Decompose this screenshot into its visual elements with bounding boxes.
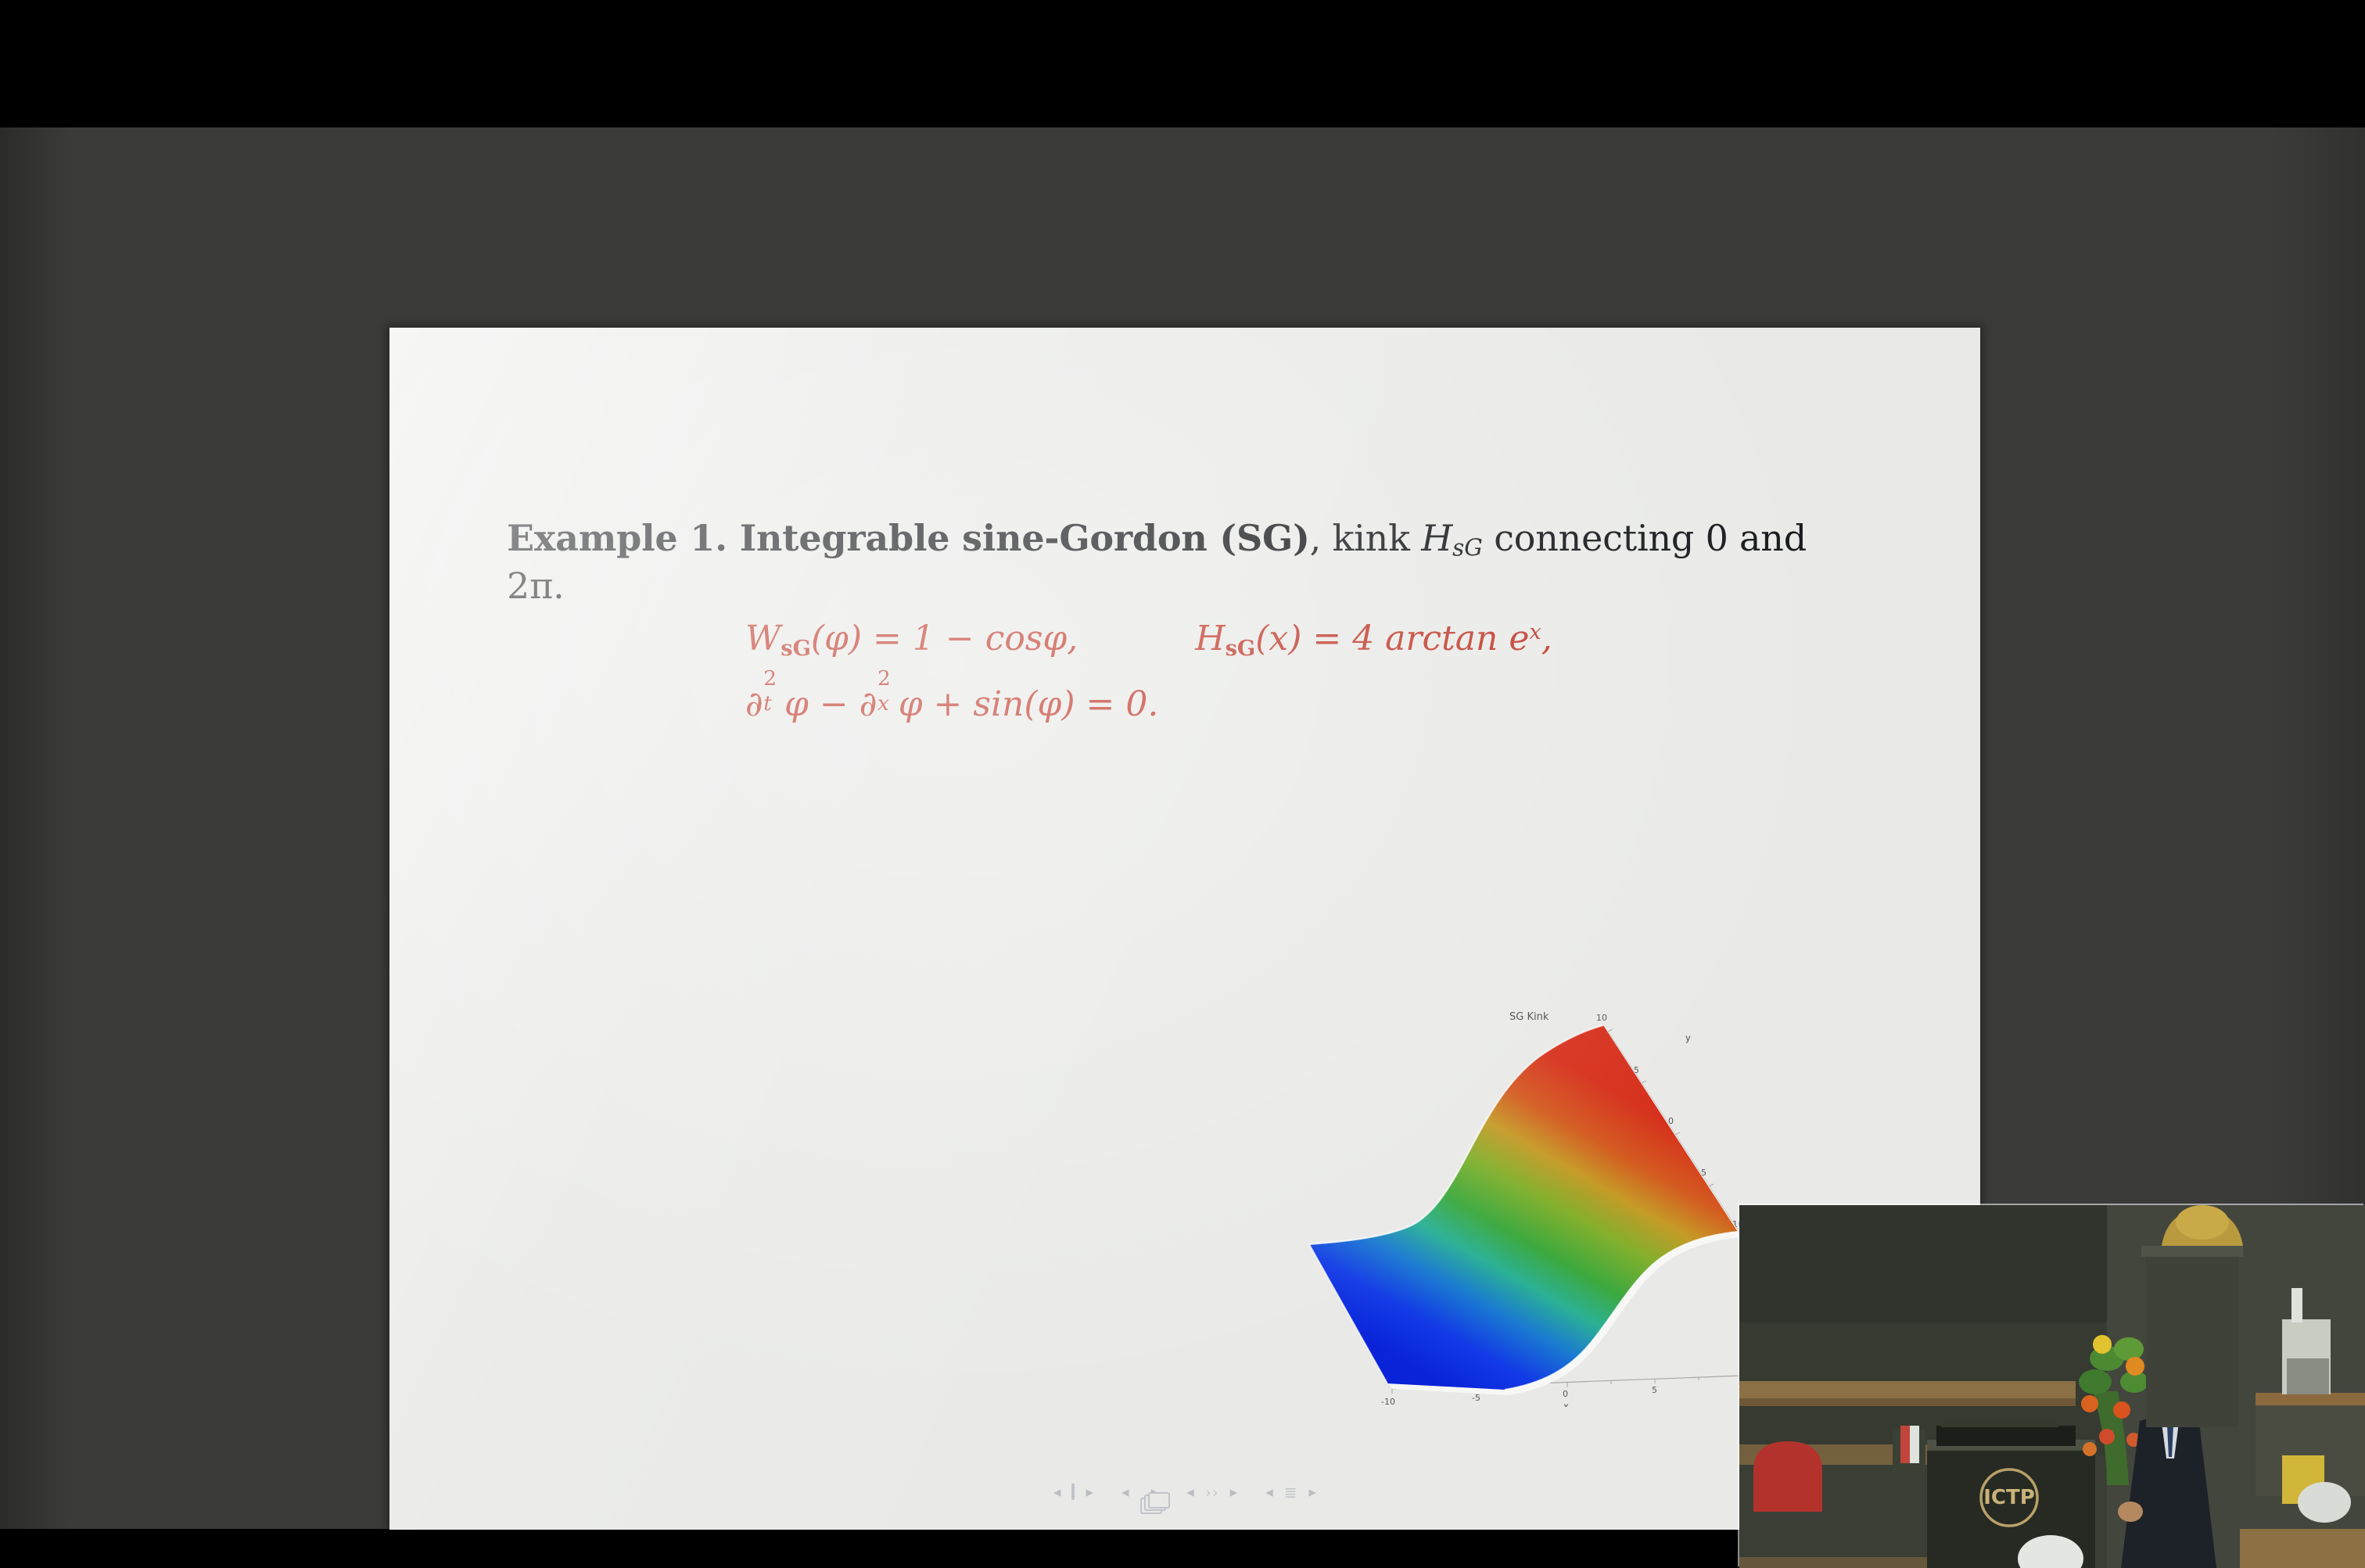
nav-prev-section-icon[interactable]: ◂ <box>1186 1485 1194 1500</box>
headline-text-2: connecting 0 and <box>1483 517 1807 559</box>
y-axis-label: y <box>1685 1032 1691 1043</box>
table-box <box>2287 1358 2329 1394</box>
nav-prev-document-icon[interactable]: ◂ <box>1265 1485 1273 1500</box>
podium-label: ICTP <box>1983 1486 2035 1509</box>
laptop-screen-edge <box>1941 1421 2058 1427</box>
lower-desk-edge <box>1739 1557 1943 1568</box>
nav-group-frame[interactable]: ◂ ▸ <box>1053 1485 1093 1500</box>
eq3-partial-1: ∂ <box>745 684 763 724</box>
lecture-hall-video-overlay[interactable]: ICTP <box>1739 1205 2365 1568</box>
small-flag <box>1900 1426 1911 1463</box>
pedestal-cap <box>2141 1246 2243 1257</box>
nav-next-document-icon[interactable]: ▸ <box>1309 1485 1317 1500</box>
lecture-hall-scene: ICTP <box>1739 1205 2365 1568</box>
eq3-mid: φ − <box>784 684 860 724</box>
speaker-hands <box>2118 1502 2143 1522</box>
eq3-partial-2-indices: 2x <box>877 681 898 716</box>
section-icon[interactable]: ›› <box>1205 1484 1219 1500</box>
eq2-symbol: H <box>1195 619 1225 658</box>
equation-row-1: WsG(φ) = 1 − cosφ, HsG(x) = 4 arctan ex, <box>745 619 1856 661</box>
audience-head-2 <box>2298 1482 2351 1523</box>
bottle <box>2291 1288 2302 1322</box>
equation-row-2: ∂2tφ − ∂2xφ + sin(φ) = 0. <box>745 681 1856 724</box>
kink-symbol: HsG <box>1421 517 1483 559</box>
eq2-body: (x) = 4 arctan e <box>1255 619 1529 658</box>
nav-prev-frame-icon[interactable]: ◂ <box>1053 1485 1061 1500</box>
nav-group-document[interactable]: ◂ ≣ ▸ <box>1265 1484 1316 1500</box>
wooden-ledge <box>1739 1381 2076 1398</box>
headline-bold-title: Integrable sine-Gordon (SG) <box>727 517 1310 559</box>
document-icon[interactable]: ≣ <box>1284 1484 1298 1500</box>
nav-prev-slide-icon[interactable]: ◂ <box>1121 1485 1129 1500</box>
headline-text-1: , kink <box>1310 517 1422 559</box>
gold-bust-highlight <box>2176 1205 2229 1240</box>
eq3-partial-1-indices: 2t <box>763 681 784 716</box>
eq3-partial-2-power: 2 <box>877 666 891 691</box>
pedestal <box>2146 1252 2238 1427</box>
equation-block: WsG(φ) = 1 − cosφ, HsG(x) = 4 arctan ex,… <box>745 619 1856 745</box>
equation-kink-profile: HsG(x) = 4 arctan ex, <box>1195 619 1552 661</box>
y-tick-0: 0 <box>1668 1116 1674 1126</box>
blackboard-upper <box>1739 1205 2107 1322</box>
plot-title: SG Kink <box>1509 1011 1549 1023</box>
x-tick-5: 5 <box>1652 1385 1657 1395</box>
nav-group-section[interactable]: ◂ ›› ▸ <box>1186 1484 1237 1500</box>
small-flag-white <box>1910 1426 1919 1463</box>
foreground-bench <box>2240 1529 2365 1568</box>
x-tick-0: 0 <box>1563 1389 1568 1399</box>
nav-next-section-icon[interactable]: ▸ <box>1230 1485 1238 1500</box>
nav-group-slides[interactable]: ◂ ▸ <box>1121 1485 1158 1500</box>
equation-superpotential: WsG(φ) = 1 − cosφ, <box>745 619 1078 661</box>
side-table-top <box>2256 1393 2365 1405</box>
x-axis-label: x <box>1563 1401 1569 1407</box>
eq3-partial-2-variable: x <box>877 691 889 716</box>
slide-text-block: Example 1. Integrable sine-Gordon (SG), … <box>507 515 1883 609</box>
wooden-ledge-shadow <box>1739 1398 2076 1406</box>
frame-icon[interactable] <box>1071 1486 1075 1498</box>
kink-symbol-subscript: sG <box>1452 534 1483 561</box>
eq3-tail: φ + sin(φ) = 0. <box>899 684 1159 724</box>
x-tick-m5: -5 <box>1472 1393 1480 1403</box>
slide-headline: Example 1. Integrable sine-Gordon (SG), … <box>507 515 1883 609</box>
eq1-subscript: sG <box>781 636 811 661</box>
y-tick-10: 10 <box>1596 1013 1607 1023</box>
eq2-subscript: sG <box>1226 636 1256 661</box>
projection-stage: Example 1. Integrable sine-Gordon (SG), … <box>0 127 2365 1529</box>
equation-field-equation: ∂2tφ − ∂2xφ + sin(φ) = 0. <box>745 681 1158 724</box>
x-tick-m10: -10 <box>1381 1397 1395 1407</box>
red-chair <box>1753 1441 1822 1512</box>
screen-capture: Example 1. Integrable sine-Gordon (SG), … <box>0 0 2365 1536</box>
eq2-exponent: x <box>1529 620 1541 644</box>
eq3-partial-1-variable: t <box>763 691 772 716</box>
eq3-partial-2: ∂ <box>860 684 877 724</box>
example-label: Example 1. <box>507 517 727 559</box>
nav-next-frame-icon[interactable]: ▸ <box>1086 1485 1093 1500</box>
eq3-partial-1-power: 2 <box>763 666 777 691</box>
eq2-tail: , <box>1541 619 1552 658</box>
laptop <box>1936 1426 2076 1446</box>
kink-symbol-base: H <box>1421 517 1452 559</box>
eq1-symbol: W <box>745 619 781 658</box>
eq1-body: (φ) = 1 − cosφ, <box>811 619 1078 658</box>
headline-line-2: 2π. <box>507 563 1883 609</box>
